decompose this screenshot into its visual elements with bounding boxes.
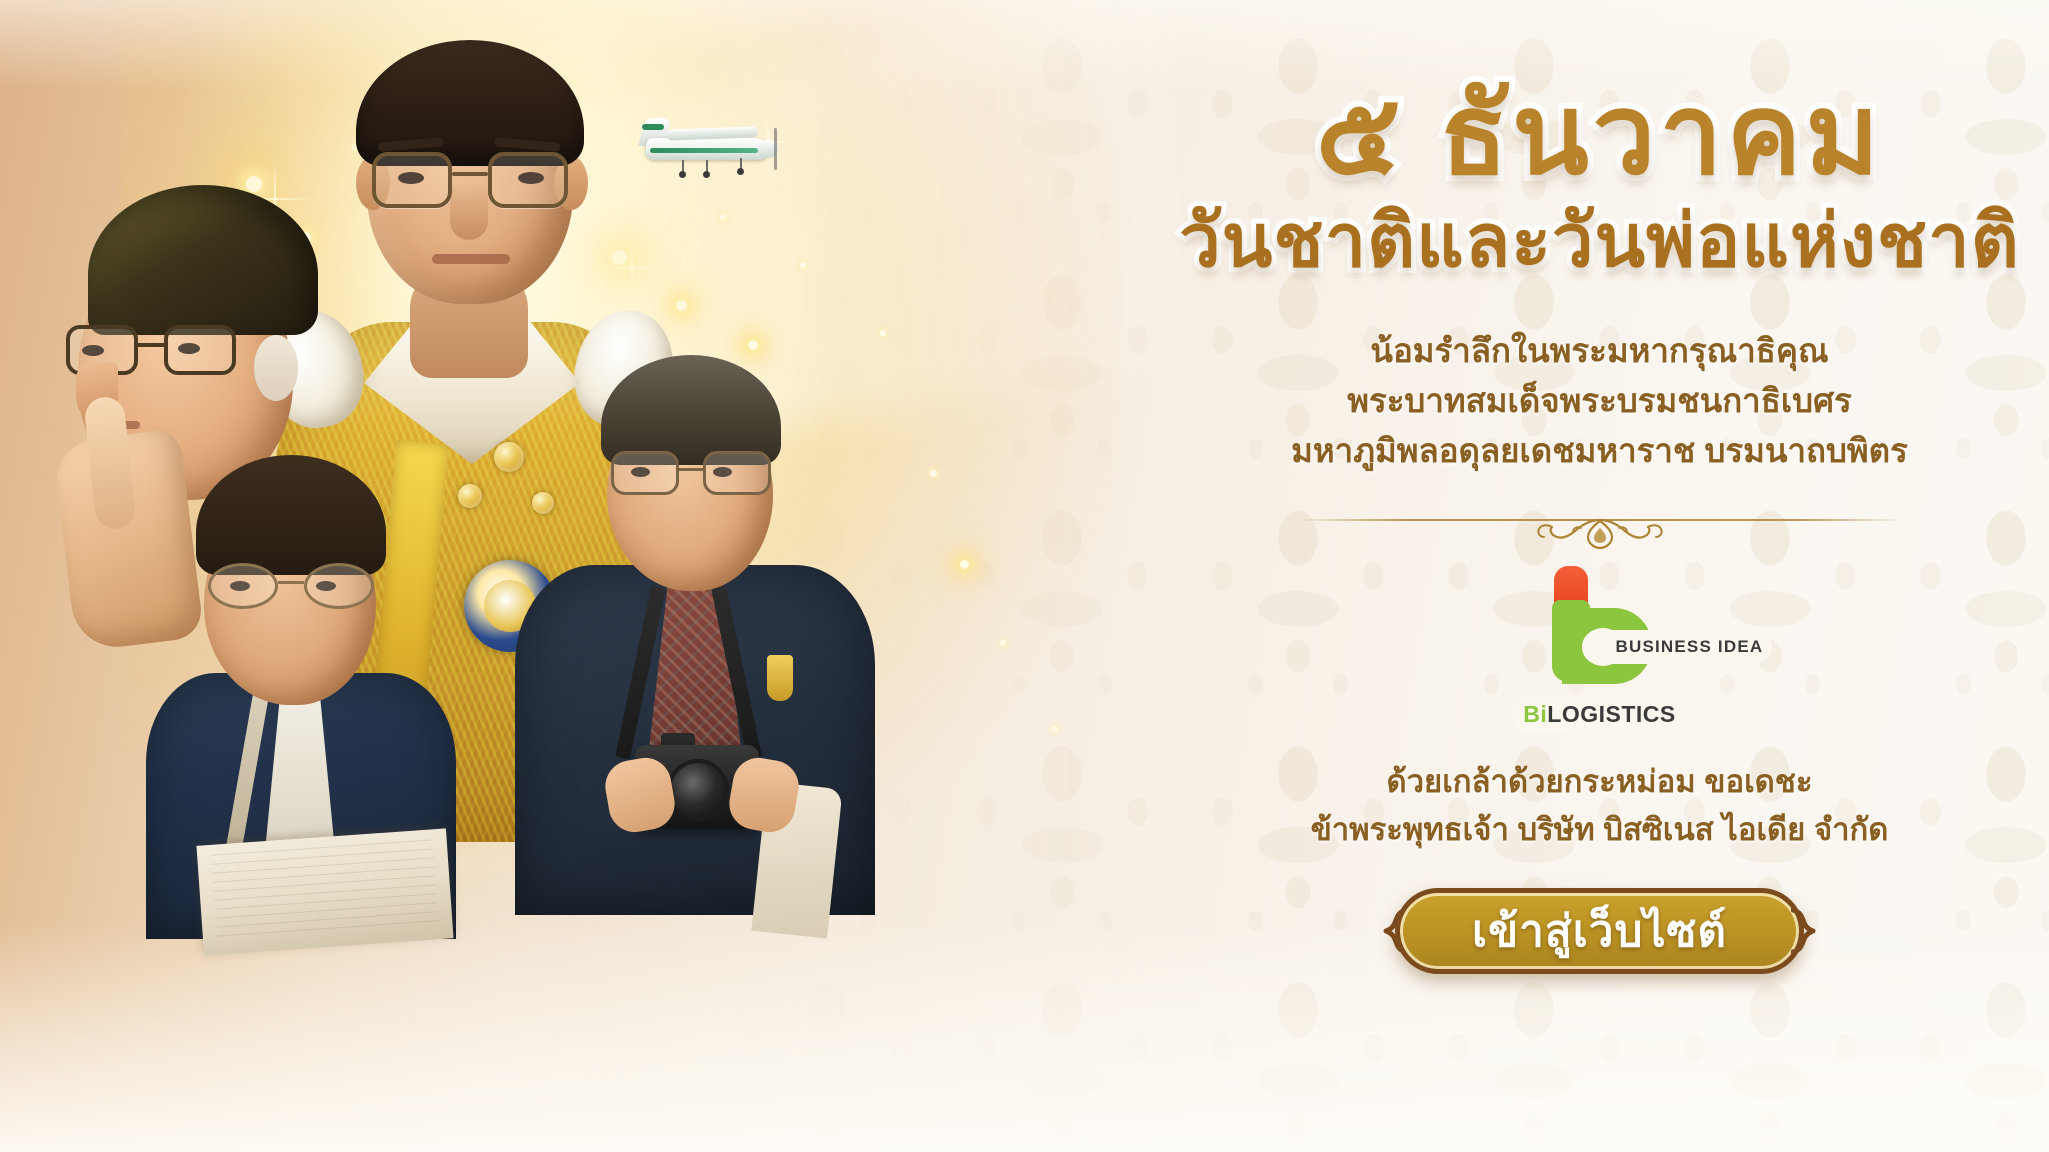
eyeglasses-icon (611, 451, 771, 497)
enter-website-button[interactable]: เข้าสู่เว็บไซต์ (1395, 888, 1804, 974)
tribute-text: น้อมรำลึกในพระมหากรุณาธิคุณ พระบาทสมเด็จ… (1291, 326, 1908, 476)
signoff-text: ด้วยเกล้าด้วยกระหม่อม ขอเดชะ ข้าพระพุทธเ… (1311, 758, 1889, 854)
tribute-line-2: พระบาทสมเด็จพระบรมชนกาธิเบศร (1291, 376, 1908, 426)
content-column: ๕ ธันวาคม วันชาติและวันพ่อแห่งชาติ น้อมร… (1150, 0, 2049, 1152)
commemorative-banner: ๕ ธันวาคม วันชาติและวันพ่อแห่งชาติ น้อมร… (0, 0, 2049, 1152)
bi-logo-mark-icon: BUSINESS IDEA (1538, 566, 1662, 684)
signoff-line-2: ข้าพระพุทธเจ้า บริษัท บิสซิเนส ไอเดีย จำ… (1311, 806, 1889, 854)
tribute-line-3: มหาภูมิพลอดุลยเดชมหาราช บรมนาถบพิตร (1291, 426, 1908, 476)
tribute-line-1: น้อมรำลึกในพระมหากรุณาธิคุณ (1291, 326, 1908, 376)
logo-tagline: BUSINESS IDEA (1582, 630, 1773, 664)
signoff-line-1: ด้วยเกล้าด้วยกระหม่อม ขอเดชะ (1311, 758, 1889, 806)
logo-subtitle: BiLOGISTICS (1516, 697, 1684, 732)
eyeglasses-icon (208, 563, 374, 611)
airplane-icon (636, 116, 776, 182)
headline-date: ๕ ธันวาคม (1316, 78, 1883, 192)
document-icon (196, 828, 453, 955)
logo-subtitle-name: LOGISTICS (1547, 701, 1675, 727)
portrait-king-with-camera (515, 355, 885, 925)
cta-container: เข้าสู่เว็บไซต์ (1395, 888, 1804, 974)
thai-ornament-divider-icon (1295, 504, 1905, 548)
company-logo: BUSINESS IDEA BiLOGISTICS (1520, 566, 1680, 734)
portrait-king-reading-document (140, 455, 470, 935)
royal-portrait-collage (0, 0, 900, 1152)
logo-subtitle-bi: Bi (1523, 701, 1547, 727)
headline-occasion: วันชาติและวันพ่อแห่งชาติ (1179, 200, 2020, 281)
